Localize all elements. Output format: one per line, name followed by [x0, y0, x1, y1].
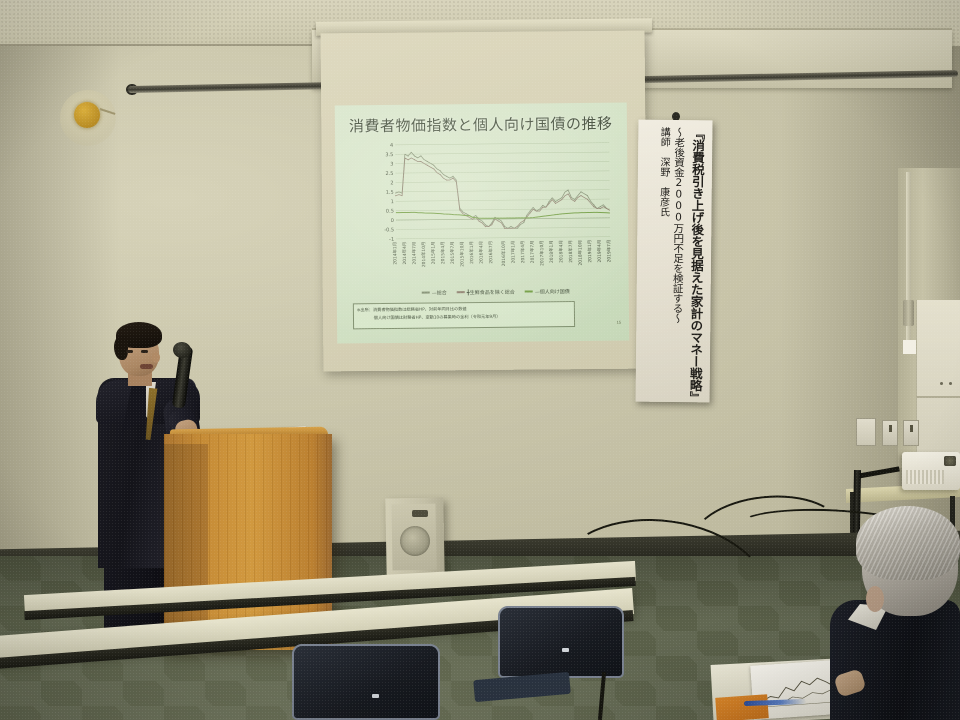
attendee-orange-folder[interactable]	[715, 694, 769, 720]
presenter-mouth	[140, 364, 153, 369]
chart-y-axis-labels: 43.532.521.510.50-0.5-1	[383, 143, 394, 243]
svg-text:2014年10月: 2014年10月	[420, 242, 427, 268]
svg-text:0: 0	[391, 218, 394, 224]
seminar-room-photo: 消費者物価指数と個人向け国債の推移 43.532.521.510.50-0.5-…	[0, 0, 960, 720]
presenter-hair-side	[114, 336, 128, 360]
legend-swatch	[457, 291, 465, 293]
banner-text-block: 『消費税引き上げ後を見据えた家計のマネー戦略』 ～老後資金2000万円不足を検証…	[636, 120, 713, 403]
svg-text:3.5: 3.5	[385, 152, 393, 158]
legend-item: ╋生鮮食品を除く総合	[457, 288, 515, 296]
projector-vent	[906, 470, 944, 484]
slide-title: 消費者物価指数と個人向け国債の推移	[349, 113, 613, 137]
legend-label: —総合	[432, 289, 447, 296]
banner-main-title: 『消費税引き上げ後を見据えた家計のマネー戦略』	[686, 127, 708, 395]
svg-text:2018年1月: 2018年1月	[548, 240, 555, 263]
svg-text:1.5: 1.5	[386, 190, 394, 196]
chart-gridlines	[395, 143, 610, 239]
speaker-woofer-icon	[400, 526, 430, 556]
slide-source-note: ※出所：消費者物価指数は総務省HP、対前年同月比の数値 個人向け国債は財務省HP…	[353, 301, 575, 329]
attendee-ear	[866, 586, 884, 612]
cpi-jgb-line-chart: 43.532.521.510.50-0.5-1 2014年1月2014年4月20…	[369, 139, 614, 284]
slide-page-number: 15	[617, 320, 622, 325]
source-note-line-2: 個人向け国債は財務省HP、変動10の募集時の金利（令和元年9月）	[357, 312, 571, 322]
wall-outlet[interactable]	[882, 420, 898, 446]
chair-label-tag	[562, 648, 569, 652]
presenter-ear	[152, 352, 160, 363]
svg-text:2017年10月: 2017年10月	[538, 240, 545, 266]
wall-cabinet	[916, 300, 960, 456]
legend-swatch	[422, 292, 430, 294]
banner-speaker-name: 講師 深野 康彦氏	[654, 127, 672, 395]
cabinet-latches[interactable]	[940, 382, 952, 385]
svg-text:2016年7月: 2016年7月	[487, 241, 494, 264]
svg-text:2014年7月: 2014年7月	[410, 242, 417, 265]
svg-text:2016年10月: 2016年10月	[500, 241, 507, 267]
svg-text:2015年4月: 2015年4月	[439, 241, 446, 264]
svg-text:2017年1月: 2017年1月	[509, 241, 516, 264]
svg-text:2018年4月: 2018年4月	[557, 240, 564, 263]
attendee-hair-texture	[856, 506, 960, 580]
svg-text:2017年7月: 2017年7月	[528, 240, 535, 263]
projected-slide: 消費者物価指数と個人向け国債の推移 43.532.521.510.50-0.5-…	[335, 102, 629, 343]
chair-backrest[interactable]	[498, 606, 624, 678]
svg-text:2018年10月: 2018年10月	[576, 240, 583, 266]
svg-text:1: 1	[391, 199, 394, 205]
cabinet-seam	[916, 396, 960, 398]
svg-text:2018年7月: 2018年7月	[567, 240, 574, 263]
speaker-tweeter-icon	[412, 510, 428, 517]
svg-text:2016年1月: 2016年1月	[468, 241, 475, 264]
svg-text:2016年4月: 2016年4月	[477, 241, 484, 264]
svg-text:2015年10月: 2015年10月	[458, 241, 465, 267]
presenter-eye	[126, 350, 133, 353]
wall-outlet[interactable]	[903, 420, 919, 446]
source-note-line-1: ※出所：消費者物価指数は総務省HP、対前年同月比の数値	[357, 304, 571, 314]
svg-text:0.5: 0.5	[386, 209, 394, 215]
chart-series-lines	[395, 150, 610, 230]
svg-text:-1: -1	[389, 237, 394, 243]
chart-legend: —総合╋生鮮食品を除く総合—個人向け国債	[383, 285, 609, 299]
alcove-pole-clamp	[903, 300, 914, 326]
svg-text:2014年1月: 2014年1月	[391, 242, 398, 265]
chair-label-tag	[372, 694, 379, 698]
svg-text:2019年1月: 2019年1月	[586, 240, 593, 263]
chart-x-axis-labels: 2014年1月2014年4月2014年7月2014年10月2015年1月2015…	[391, 240, 612, 268]
chair-backrest[interactable]	[292, 644, 440, 720]
svg-text:2019年7月: 2019年7月	[605, 240, 612, 263]
svg-text:2017年4月: 2017年4月	[519, 241, 526, 264]
svg-text:2.5: 2.5	[385, 171, 393, 177]
svg-text:2014年4月: 2014年4月	[401, 242, 408, 265]
presenter-eye	[141, 350, 148, 353]
legend-item: —総合	[422, 289, 447, 296]
light-switch-plate[interactable]	[856, 418, 876, 446]
banner-subtitle: ～老後資金2000万円不足を検証する～	[670, 127, 688, 395]
svg-text:-0.5: -0.5	[384, 227, 394, 233]
svg-text:4: 4	[390, 143, 393, 149]
projector-lens-icon	[944, 456, 956, 466]
legend-label: —個人向け国債	[535, 288, 570, 295]
chart-svg: 43.532.521.510.50-0.5-1 2014年1月2014年4月20…	[369, 139, 614, 284]
wall-clock-icon	[74, 102, 100, 128]
legend-item: —個人向け国債	[525, 288, 570, 295]
svg-text:2019年4月: 2019年4月	[596, 240, 603, 263]
event-title-banner: 『消費税引き上げ後を見据えた家計のマネー戦略』 ～老後資金2000万円不足を検証…	[636, 120, 713, 403]
svg-text:2015年7月: 2015年7月	[449, 241, 456, 264]
legend-label: ╋生鮮食品を除く総合	[467, 288, 515, 296]
svg-text:3: 3	[390, 162, 393, 168]
svg-text:2: 2	[390, 180, 393, 186]
svg-text:2015年1月: 2015年1月	[429, 241, 436, 264]
legend-swatch	[525, 291, 533, 293]
